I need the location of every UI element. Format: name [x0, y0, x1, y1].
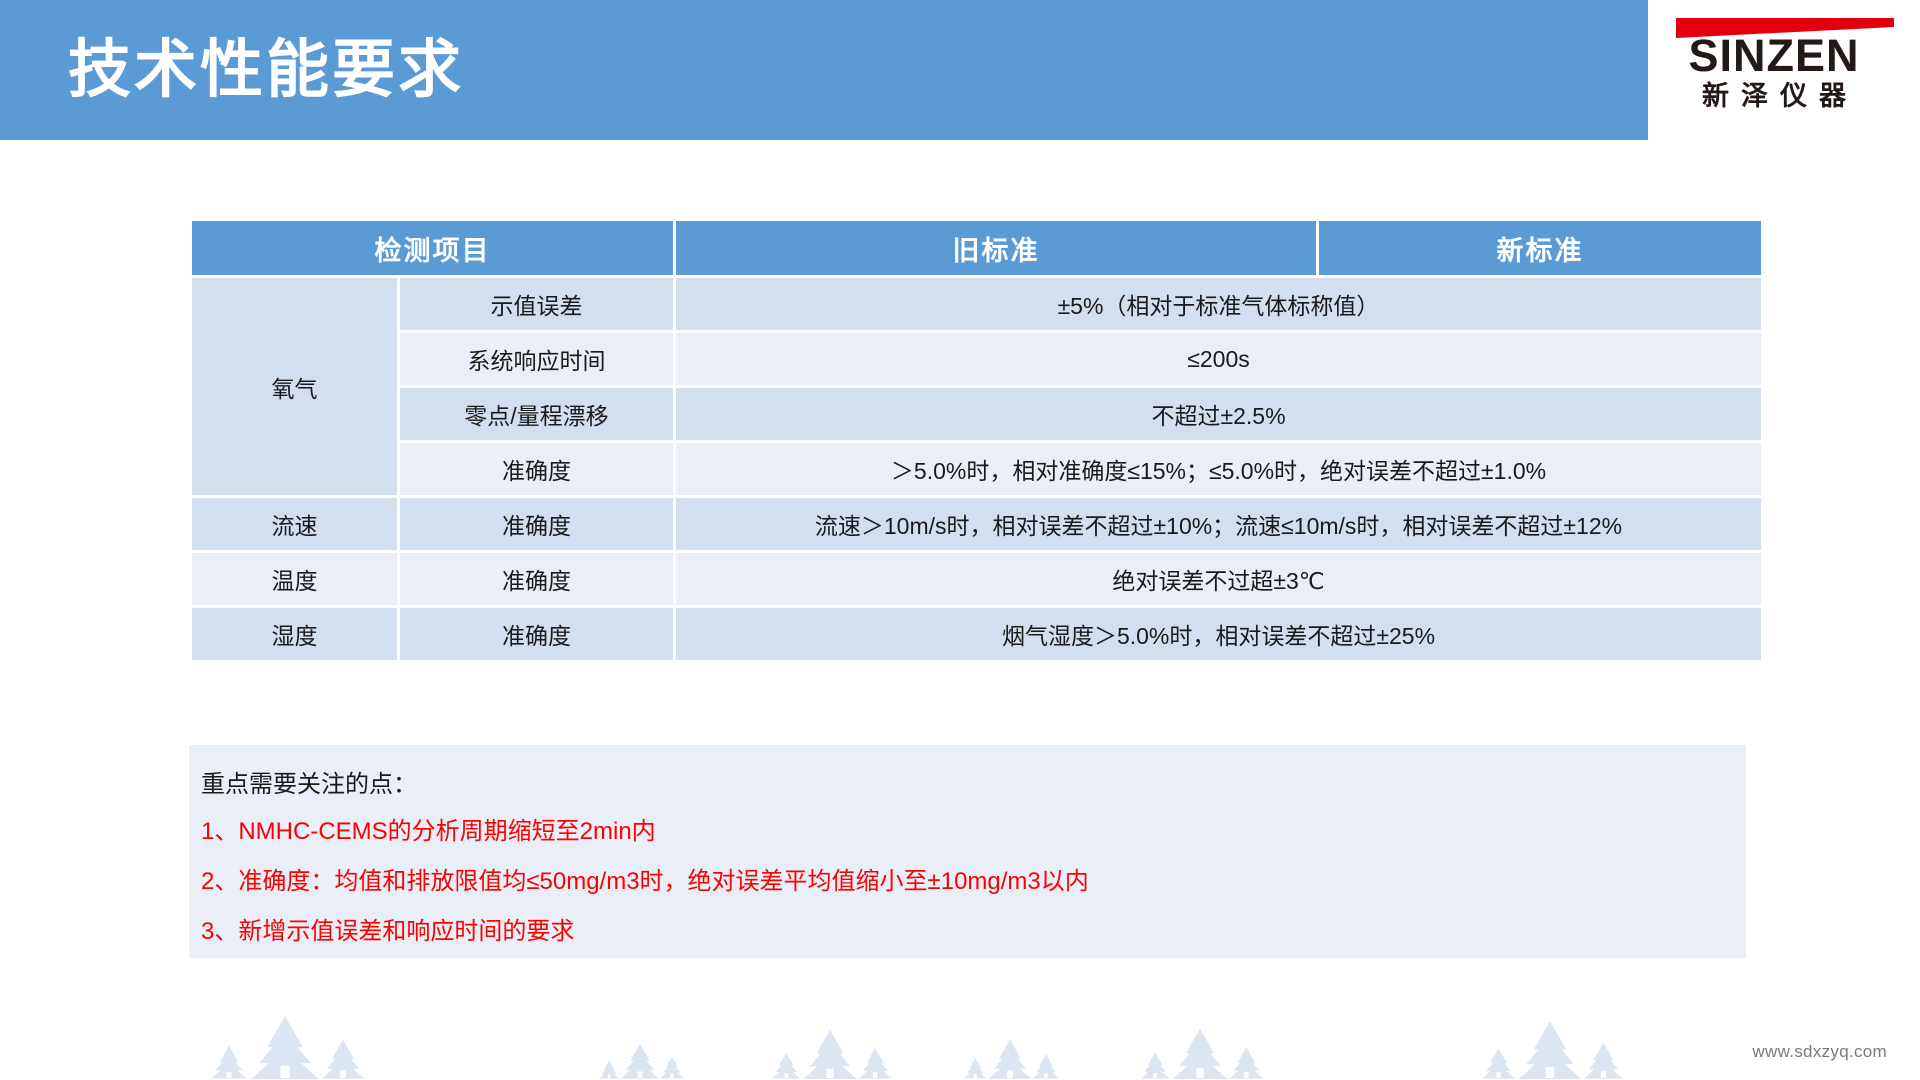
table-header-row: 检测项目 旧标准 新标准 — [192, 221, 1761, 275]
key-points-title: 重点需要关注的点： — [201, 763, 1746, 807]
pine-tree-icon — [1141, 1052, 1169, 1078]
row-item-label: 零点/量程漂移 — [400, 388, 673, 440]
row-value-cell: 烟气湿度＞5.0%时，相对误差不超过±25% — [676, 608, 1761, 660]
key-point-item-3: 3、新增示值误差和响应时间的要求 — [201, 907, 1746, 957]
row-value-cell: 不超过±2.5% — [676, 388, 1761, 440]
pine-tree-icon — [1033, 1054, 1059, 1078]
row-value-cell: ±5%（相对于标准气体标称值） — [676, 278, 1761, 330]
pine-tree-icon — [211, 1046, 246, 1079]
website-url: www.sdxzyq.com — [1752, 1042, 1887, 1062]
table-row: 准确度＞5.0%时，相对准确度≤15%；≤5.0%时，绝对误差不超过±1.0% — [192, 443, 1761, 495]
pine-tree-icon — [1230, 1047, 1264, 1078]
row-item-label: 准确度 — [400, 553, 673, 605]
row-group-label: 湿度 — [192, 608, 397, 660]
row-group-label: 流速 — [192, 498, 397, 550]
column-header-old-standard: 旧标准 — [676, 221, 1316, 275]
row-group-label: 温度 — [192, 553, 397, 605]
row-value-cell: 绝对误差不过超±3℃ — [676, 553, 1761, 605]
row-value-cell: ＞5.0%时，相对准确度≤15%；≤5.0%时，绝对误差不超过±1.0% — [676, 443, 1761, 495]
table-row: 流速准确度流速＞10m/s时，相对误差不超过±10%；流速≤10m/s时，相对误… — [192, 498, 1761, 550]
pine-tree-icon — [1584, 1043, 1623, 1079]
pine-tree-icon — [803, 1030, 856, 1079]
pine-tree-icon — [1173, 1028, 1227, 1079]
spec-table: 检测项目 旧标准 新标准 氧气示值误差±5%（相对于标准气体标称值）系统响应时间… — [189, 218, 1764, 663]
pine-tree-icon — [1519, 1021, 1582, 1079]
column-header-item: 检测项目 — [192, 221, 673, 275]
pine-tree-icon — [964, 1058, 986, 1078]
table-row: 零点/量程漂移不超过±2.5% — [192, 388, 1761, 440]
pine-tree-icon — [859, 1048, 892, 1079]
pine-tree-icon — [1482, 1048, 1515, 1078]
pine-tree-icon — [660, 1057, 683, 1079]
row-item-label: 准确度 — [400, 608, 673, 660]
pine-tree-icon — [989, 1040, 1031, 1079]
row-item-label: 准确度 — [400, 443, 673, 495]
logo-chinese-text: 新泽仪器 — [1654, 80, 1894, 112]
table-row: 氧气示值误差±5%（相对于标准气体标称值） — [192, 278, 1761, 330]
row-group-label: 氧气 — [192, 278, 397, 495]
column-header-new-standard: 新标准 — [1319, 221, 1761, 275]
table-row: 湿度准确度烟气湿度＞5.0%时，相对误差不超过±25% — [192, 608, 1761, 660]
pine-tree-icon — [773, 1053, 801, 1079]
row-value-cell: ≤200s — [676, 333, 1761, 385]
row-item-label: 系统响应时间 — [400, 333, 673, 385]
pine-tree-icon — [621, 1044, 658, 1079]
table-row: 系统响应时间≤200s — [192, 333, 1761, 385]
row-value-cell: 流速＞10m/s时，相对误差不超过±10%；流速≤10m/s时，相对误差不超过±… — [676, 498, 1761, 550]
pine-tree-icon — [322, 1040, 364, 1079]
key-point-item-2: 2、准确度：均值和排放限值均≤50mg/m3时，绝对误差平均值缩小至±10mg/… — [201, 857, 1746, 907]
tree-decoration-icon — [0, 970, 1920, 1080]
spec-table-wrapper: 检测项目 旧标准 新标准 氧气示值误差±5%（相对于标准气体标称值）系统响应时间… — [189, 218, 1752, 663]
spec-table-head: 检测项目 旧标准 新标准 — [192, 221, 1761, 275]
spec-table-body: 氧气示值误差±5%（相对于标准气体标称值）系统响应时间≤200s零点/量程漂移不… — [192, 278, 1761, 660]
row-item-label: 准确度 — [400, 498, 673, 550]
pine-tree-icon — [599, 1060, 618, 1078]
logo-english-text: SINZEN — [1654, 32, 1894, 80]
company-logo: SINZEN 新泽仪器 — [1654, 10, 1894, 116]
key-points-box: 重点需要关注的点： 1、NMHC-CEMS的分析周期缩短至2min内 2、准确度… — [189, 745, 1746, 958]
table-row: 温度准确度绝对误差不过超±3℃ — [192, 553, 1761, 605]
page-title: 技术性能要求 — [68, 20, 464, 120]
pine-tree-icon — [251, 1016, 319, 1079]
key-point-item-1: 1、NMHC-CEMS的分析周期缩短至2min内 — [201, 807, 1746, 857]
row-item-label: 示值误差 — [400, 278, 673, 330]
